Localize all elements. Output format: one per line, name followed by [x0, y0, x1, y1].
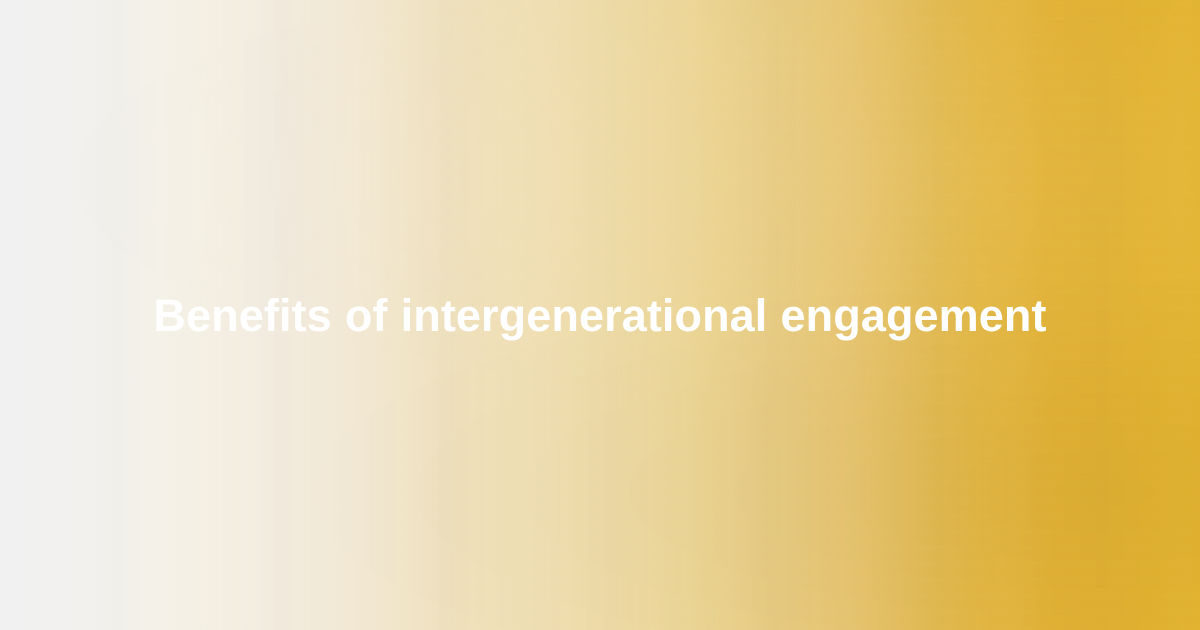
card-title: Benefits of intergenerational engagement	[118, 288, 1082, 343]
card-content: Benefits of intergenerational engagement	[0, 0, 1200, 630]
social-share-card: Benefits of intergenerational engagement	[0, 0, 1200, 630]
